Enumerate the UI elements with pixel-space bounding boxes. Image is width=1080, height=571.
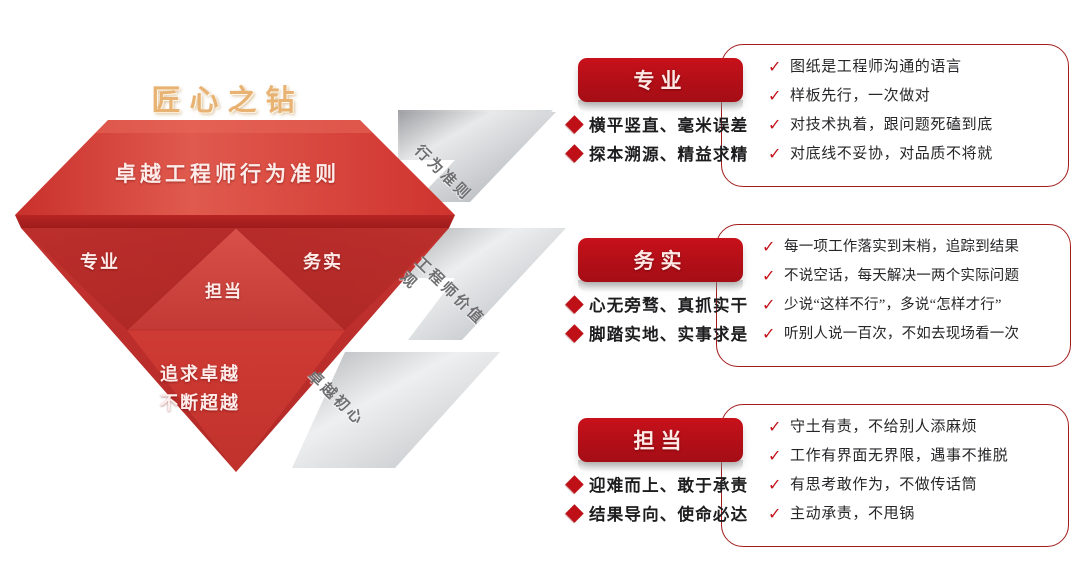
card-badge[interactable]: 担当 [578,418,743,462]
check-icon: ✓ [768,414,790,440]
principle-text: 探本溯源、精益求精 [589,141,748,165]
card-pragmatic: 务实 心无旁骛、真抓实干 脚踏实地、实事求是 ✓ 每一项工作落实到末梢，追踪到结… [556,218,1080,373]
principle-text: 迎难而上、敢于承责 [589,472,748,496]
check-text: 对技术执着，跟问题死磕到底 [790,112,993,138]
check-text: 工作有界面无界限，遇事不推脱 [790,443,1008,469]
diamond-bullet-icon [565,115,583,133]
check-icon: ✓ [762,321,784,347]
diamond-girdle [15,215,455,228]
check-icon: ✓ [768,54,790,80]
principle-item: 探本溯源、精益求精 [568,141,748,165]
check-item: ✓ 图纸是工程师沟通的语言 [768,54,1068,80]
principle-item: 心无旁骛、真抓实干 [568,292,748,316]
check-icon: ✓ [768,83,790,109]
check-item: ✓ 对底线不妥协，对品质不将就 [768,141,1068,167]
checks-list: ✓ 每一项工作落实到末梢，追踪到结果 ✓ 不说空话，每天解决一两个实际问题 ✓ … [762,234,1080,350]
principles-list: 横平竖直、毫米误差 探本溯源、精益求精 [568,112,748,170]
check-text: 有思考敢作为，不做传话筒 [790,472,977,498]
diamond-bullet-icon [565,295,583,313]
check-item: ✓ 主动承责，不甩锅 [768,501,1068,527]
check-icon: ✓ [762,234,784,260]
diamond-figure: 匠心之钻 卓越工程师行为准则 专业 务实 担当 追求卓越 不断超越 行为准则 工… [0,0,570,571]
card-responsibility: 担当 迎难而上、敢于承责 结果导向、使命必达 ✓ 守土有责，不给别人添麻烦 [556,398,1080,553]
diamond-bullet-icon [565,475,583,493]
card-badge-label: 专业 [634,65,688,95]
checks-list: ✓ 守土有责，不给别人添麻烦 ✓ 工作有界面无界限，遇事不推脱 ✓ 有思考敢作为… [768,414,1068,530]
principle-item: 横平竖直、毫米误差 [568,112,748,136]
check-text: 图纸是工程师沟通的语言 [790,54,962,80]
principle-text: 脚踏实地、实事求是 [589,321,748,345]
principle-text: 心无旁骛、真抓实干 [589,292,748,316]
check-item: ✓ 不说空话，每天解决一两个实际问题 [762,263,1080,289]
check-icon: ✓ [762,263,784,289]
value-cards: 专业 横平竖直、毫米误差 探本溯源、精益求精 ✓ 图纸是工程师沟通的语言 [556,0,1080,571]
check-item: ✓ 守土有责，不给别人添麻烦 [768,414,1068,440]
card-professional: 专业 横平竖直、毫米误差 探本溯源、精益求精 ✓ 图纸是工程师沟通的语言 [556,38,1080,193]
check-text: 主动承责，不甩锅 [790,501,915,527]
principle-item: 迎难而上、敢于承责 [568,472,748,496]
check-icon: ✓ [768,501,790,527]
principle-item: 脚踏实地、实事求是 [568,321,748,345]
principles-list: 迎难而上、敢于承责 结果导向、使命必达 [568,472,748,530]
check-text: 少说“这样不行”，多说“怎样才行” [784,292,1002,318]
principle-text: 结果导向、使命必达 [589,501,748,525]
card-badge-label: 担当 [634,425,688,455]
card-badge[interactable]: 务实 [578,238,743,282]
check-item: ✓ 有思考敢作为，不做传话筒 [768,472,1068,498]
diamond-bullet-icon [565,324,583,342]
check-text: 守土有责，不给别人添麻烦 [790,414,977,440]
card-badge[interactable]: 专业 [578,58,743,102]
check-icon: ✓ [762,292,784,318]
check-item: ✓ 每一项工作落实到末梢，追踪到结果 [762,234,1080,260]
diamond-bullet-icon [565,504,583,522]
check-item: ✓ 工作有界面无界限，遇事不推脱 [768,443,1068,469]
check-item: ✓ 对技术执着，跟问题死磕到底 [768,112,1068,138]
check-icon: ✓ [768,472,790,498]
figure-title: 匠心之钻 [0,77,455,119]
check-text: 听别人说一百次，不如去现场看一次 [784,321,1019,347]
check-icon: ✓ [768,141,790,167]
check-text: 对底线不妥协，对品质不将就 [790,141,993,167]
principle-text: 横平竖直、毫米误差 [589,112,748,136]
check-item: ✓ 少说“这样不行”，多说“怎样才行” [762,292,1080,318]
check-text: 样板先行，一次做对 [790,83,930,109]
crown-highlight [96,120,372,133]
slide-canvas: 匠心之钻 卓越工程师行为准则 专业 务实 担当 追求卓越 不断超越 行为准则 工… [0,0,1080,571]
checks-list: ✓ 图纸是工程师沟通的语言 ✓ 样板先行，一次做对 ✓ 对技术执着，跟问题死磕到… [768,54,1068,170]
check-item: ✓ 样板先行，一次做对 [768,83,1068,109]
check-icon: ✓ [768,112,790,138]
card-badge-label: 务实 [634,245,688,275]
check-text: 每一项工作落实到末梢，追踪到结果 [784,234,1019,260]
principle-item: 结果导向、使命必达 [568,501,748,525]
check-text: 不说空话，每天解决一两个实际问题 [784,263,1019,289]
diamond-bullet-icon [565,144,583,162]
check-item: ✓ 听别人说一百次，不如去现场看一次 [762,321,1080,347]
check-icon: ✓ [768,443,790,469]
principles-list: 心无旁骛、真抓实干 脚踏实地、实事求是 [568,292,748,350]
